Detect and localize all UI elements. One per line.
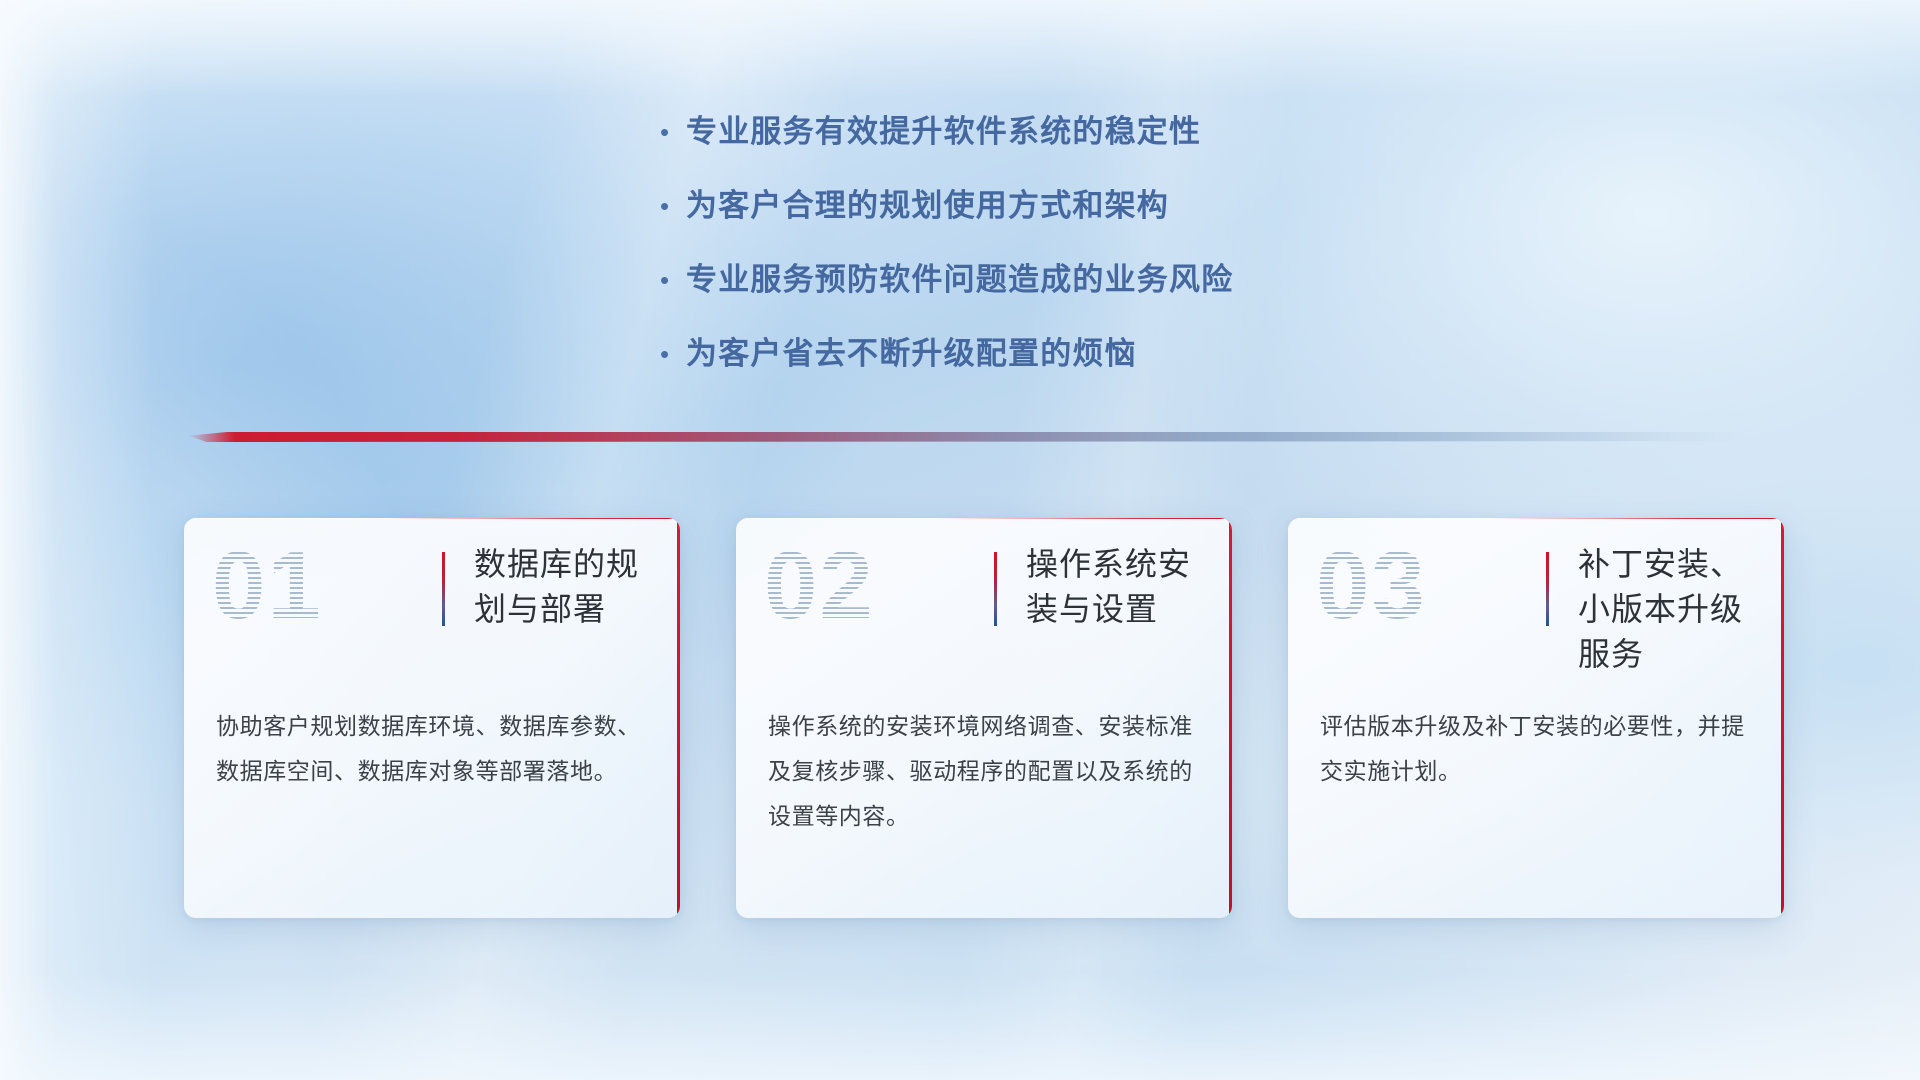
bullet-item-label: 专业服务有效提升软件系统的稳定性: [686, 110, 1201, 154]
card-header: 03 补丁安装、小版本升级服务: [1288, 518, 1784, 678]
service-card[interactable]: 02 操作系统安装与设置 操作系统的安装环境网络调查、安装标准及复核步骤、驱动程…: [736, 518, 1232, 918]
card-title: 数据库的规划与部署: [474, 542, 664, 632]
card-title-divider-bar: [442, 552, 445, 626]
bullet-item: • 专业服务预防软件问题造成的业务风险: [660, 258, 1560, 302]
bullet-item-label: 为客户省去不断升级配置的烦恼: [686, 332, 1137, 376]
service-card[interactable]: 03 补丁安装、小版本升级服务 评估版本升级及补丁安装的必要性，并提交实施计划。: [1288, 518, 1784, 918]
bullet-item: • 专业服务有效提升软件系统的稳定性: [660, 110, 1560, 154]
benefits-bullet-list: • 专业服务有效提升软件系统的稳定性 • 为客户合理的规划使用方式和架构 • 专…: [660, 110, 1560, 406]
card-header: 02 操作系统安装与设置: [736, 518, 1232, 678]
card-description: 协助客户规划数据库环境、数据库参数、数据库空间、数据库对象等部署落地。: [216, 704, 646, 794]
card-title: 操作系统安装与设置: [1026, 542, 1216, 632]
card-description: 评估版本升级及补丁安装的必要性，并提交实施计划。: [1320, 704, 1750, 794]
card-description: 操作系统的安装环境网络调查、安装标准及复核步骤、驱动程序的配置以及系统的设置等内…: [768, 704, 1198, 839]
bullet-dot-icon: •: [660, 258, 686, 302]
bullet-item-label: 为客户合理的规划使用方式和架构: [686, 184, 1169, 228]
service-card[interactable]: 01 数据库的规划与部署 协助客户规划数据库环境、数据库参数、数据库空间、数据库…: [184, 518, 680, 918]
card-title-divider-bar: [1546, 552, 1549, 626]
bullet-item: • 为客户省去不断升级配置的烦恼: [660, 332, 1560, 376]
bullet-item: • 为客户合理的规划使用方式和架构: [660, 184, 1560, 228]
card-title-divider-bar: [994, 552, 997, 626]
bullet-item-label: 专业服务预防软件问题造成的业务风险: [686, 258, 1233, 302]
card-title: 补丁安装、小版本升级服务: [1578, 542, 1768, 677]
bullet-dot-icon: •: [660, 332, 686, 376]
card-header: 01 数据库的规划与部署: [184, 518, 680, 678]
divider-gradient-bar: [188, 432, 1738, 442]
bullet-dot-icon: •: [660, 184, 686, 228]
service-card-list: 01 数据库的规划与部署 协助客户规划数据库环境、数据库参数、数据库空间、数据库…: [184, 518, 1784, 918]
card-number-watermark: 01: [212, 538, 323, 634]
card-number-watermark: 02: [764, 538, 875, 634]
bullet-dot-icon: •: [660, 110, 686, 154]
card-number-watermark: 03: [1316, 538, 1427, 634]
section-divider: [188, 432, 1738, 442]
